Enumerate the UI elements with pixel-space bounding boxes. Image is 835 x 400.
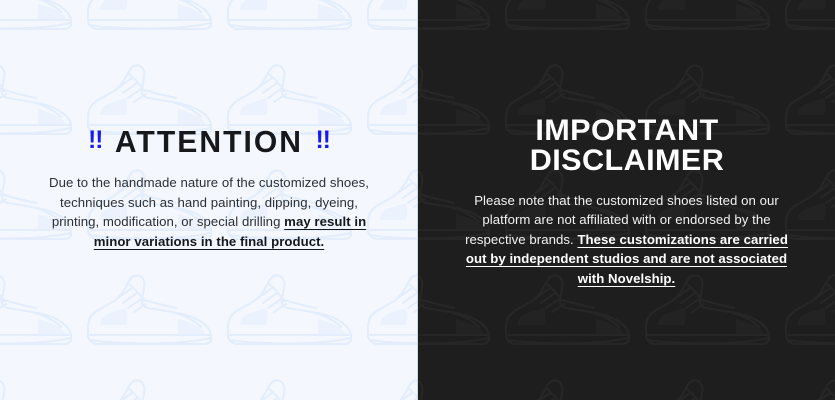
attention-body: Due to the handmade nature of the custom… <box>44 173 374 251</box>
attention-heading: !! ATTENTION !! <box>49 126 369 157</box>
panel-divider <box>417 0 418 400</box>
double-exclamation-icon-right: !! <box>316 128 330 153</box>
disclaimer-content: IMPORTANT DISCLAIMER Please note that th… <box>418 0 835 400</box>
disclaimer-panel: IMPORTANT DISCLAIMER Please note that th… <box>418 0 835 400</box>
double-exclamation-icon-left: !! <box>88 128 102 153</box>
attention-heading-text: ATTENTION <box>115 126 303 157</box>
disclaimer-heading: IMPORTANT DISCLAIMER <box>453 116 800 176</box>
disclaimer-heading-line2: DISCLAIMER <box>453 146 800 176</box>
disclaimer-heading-line1: IMPORTANT <box>535 114 718 147</box>
attention-content: !! ATTENTION !! Due to the handmade natu… <box>0 0 418 400</box>
disclaimer-body: Please note that the customized shoes li… <box>457 191 797 288</box>
disclaimer-banner: !! ATTENTION !! Due to the handmade natu… <box>0 0 835 400</box>
attention-panel: !! ATTENTION !! Due to the handmade natu… <box>0 0 418 400</box>
